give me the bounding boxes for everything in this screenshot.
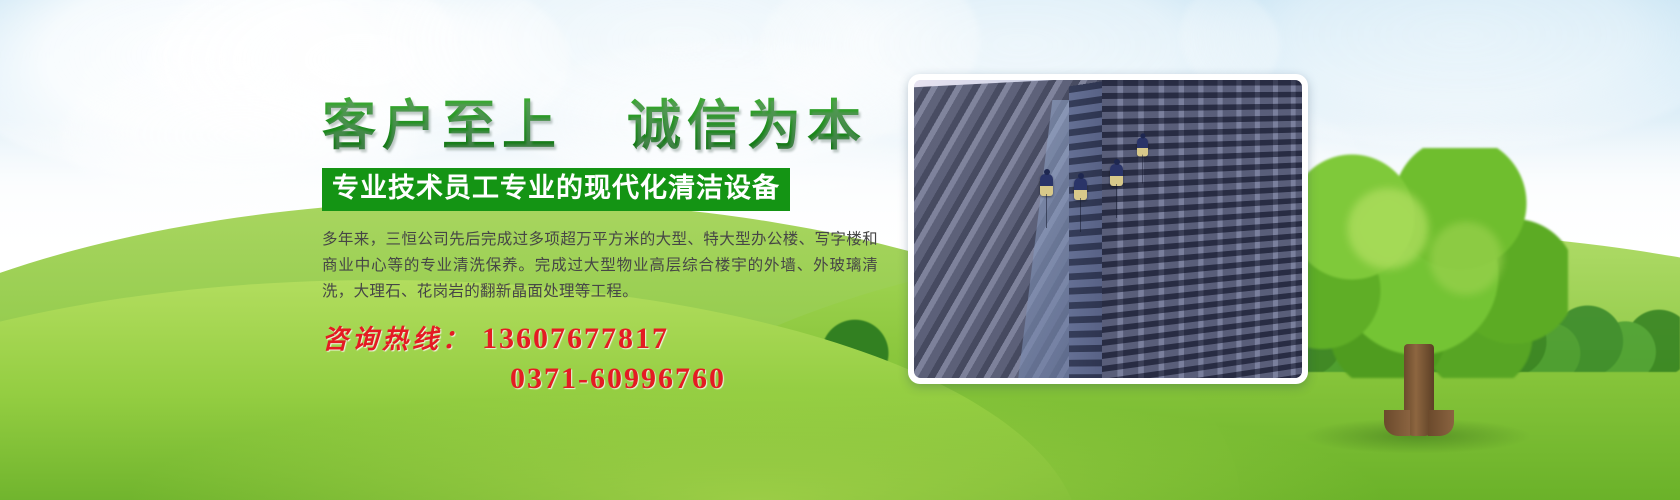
hotline-label: 咨询热线： <box>322 325 472 354</box>
tree-trunk <box>1404 344 1434 436</box>
building-photo-card[interactable] <box>908 74 1308 384</box>
building-facade-right <box>1102 80 1302 378</box>
headline-part-1: 客户至上 <box>322 96 562 156</box>
rope-access-worker-icon <box>1137 138 1148 157</box>
building-photo <box>914 80 1302 378</box>
headline-part-2: 诚信为本 <box>627 96 867 156</box>
rope-access-worker-icon <box>1040 174 1053 196</box>
hotline-secondary[interactable]: 0371-60996760 <box>322 362 902 396</box>
rope-access-worker-icon <box>1110 164 1123 186</box>
rope-access-worker-icon <box>1074 178 1087 200</box>
banner-subtitle-bar: 专业技术员工专业的现代化清洁设备 <box>322 168 790 210</box>
hotline-landline-number[interactable]: 0371-60996760 <box>510 362 726 395</box>
banner-headline: 客户至上 诚信为本 <box>322 96 902 156</box>
banner-content: 客户至上 诚信为本 专业技术员工专业的现代化清洁设备 多年来，三恒公司先后完成过… <box>322 96 902 396</box>
tree-illustration <box>1268 148 1568 448</box>
hotline-mobile-number[interactable]: 13607677817 <box>482 322 669 355</box>
banner-description: 多年来，三恒公司先后完成过多项超万平方米的大型、特大型办公楼、写字楼和商业中心等… <box>322 227 878 305</box>
promo-banner: 客户至上 诚信为本 专业技术员工专业的现代化清洁设备 多年来，三恒公司先后完成过… <box>0 0 1680 500</box>
hotline-block: 咨询热线：13607677817 0371-60996760 <box>322 319 902 396</box>
hotline-primary[interactable]: 咨询热线：13607677817 <box>322 319 902 356</box>
